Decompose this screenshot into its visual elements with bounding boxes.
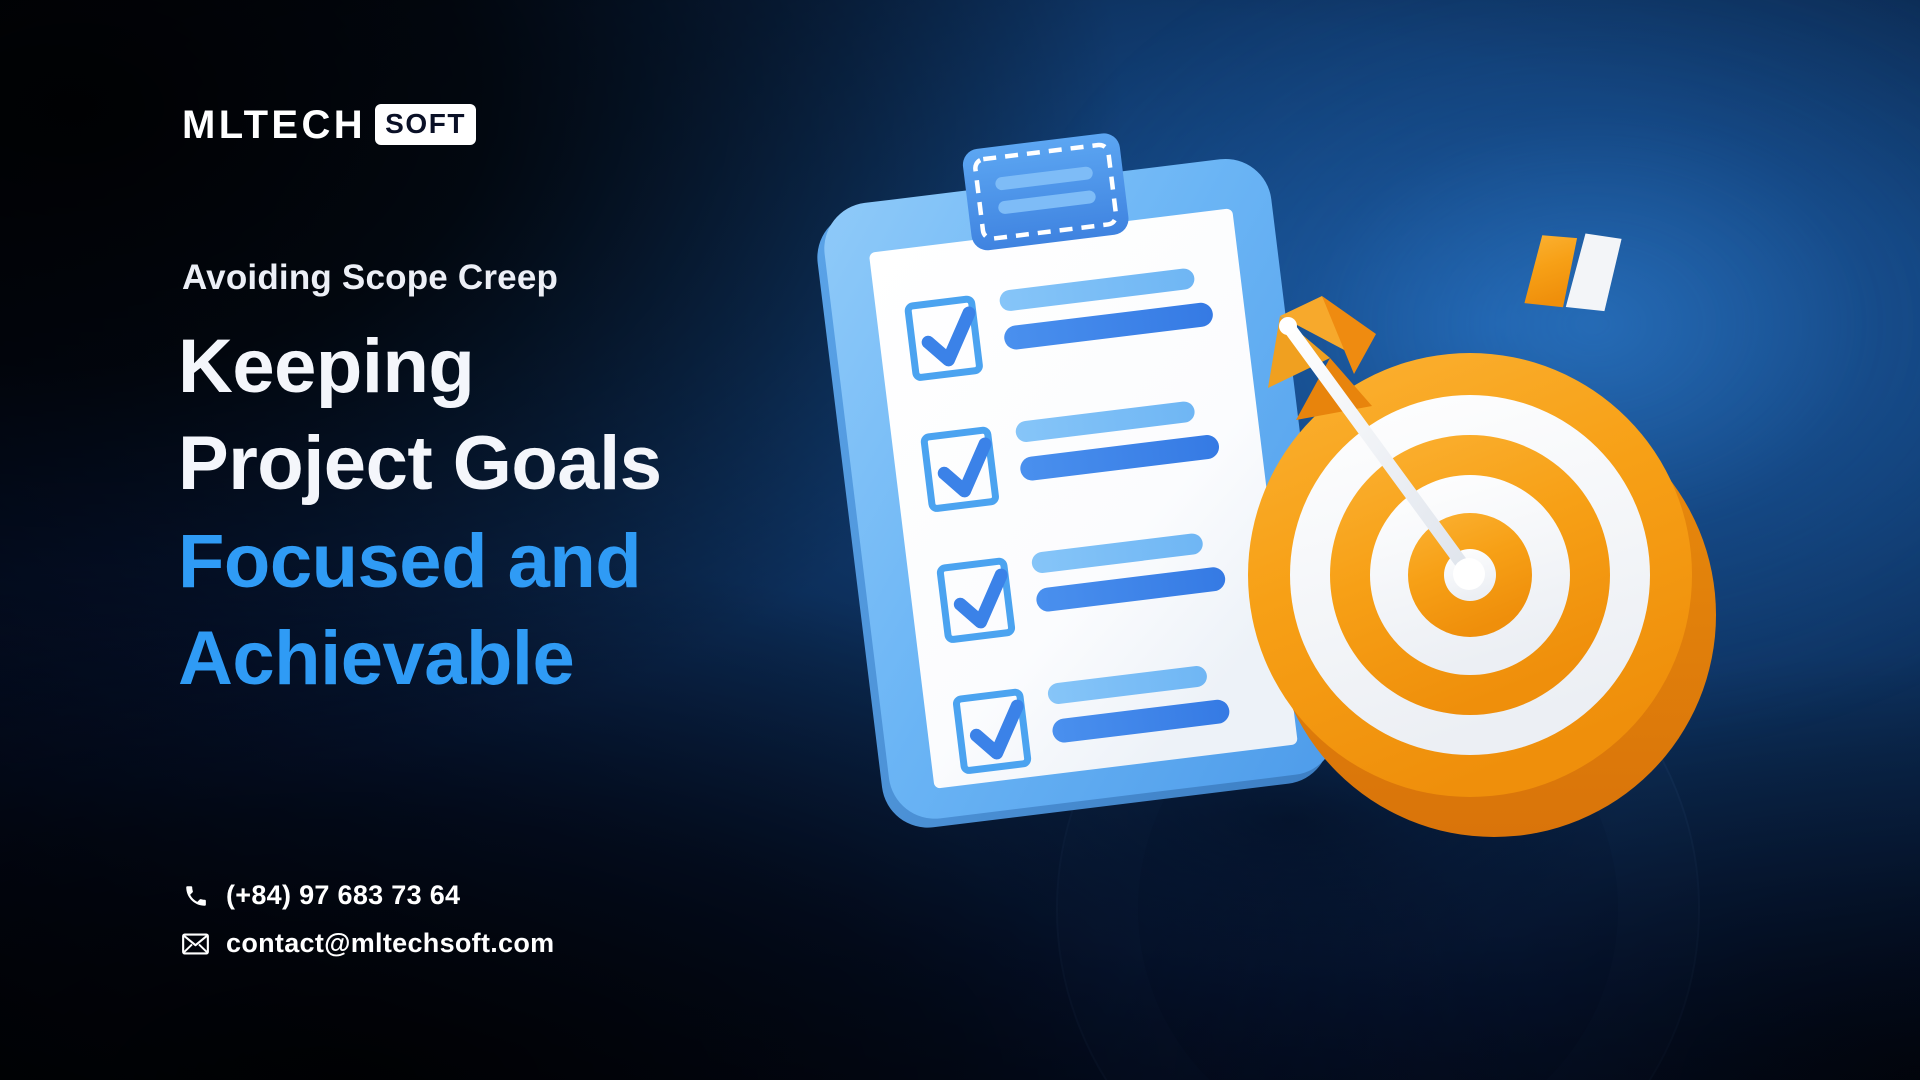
headline-line-3: Focused and: [178, 513, 661, 610]
contact-email-row[interactable]: contact@mltechsoft.com: [182, 928, 554, 959]
headline-line-2: Project Goals: [178, 415, 661, 512]
headline: Keeping Project Goals Focused and Achiev…: [178, 318, 661, 707]
phone-icon: [182, 882, 209, 909]
contact-phone-row[interactable]: (+84) 97 683 73 64: [182, 880, 554, 911]
clipboard: [806, 114, 1342, 833]
logo-badge-soft: SOFT: [375, 104, 476, 145]
phone-number: (+84) 97 683 73 64: [226, 880, 460, 911]
logo-wordmark: MLTECH: [182, 105, 366, 145]
promo-banner: MLTECH SOFT Avoiding Scope Creep Keeping…: [0, 0, 1920, 1080]
hero-illustration: [860, 120, 1740, 970]
confetti-cones: [1521, 228, 1628, 319]
headline-line-1: Keeping: [178, 318, 661, 415]
contact-block: (+84) 97 683 73 64 contact@mltechsoft.co…: [182, 880, 554, 959]
headline-line-4: Achievable: [178, 610, 661, 707]
eyebrow-text: Avoiding Scope Creep: [182, 258, 558, 298]
clipboard-clip: [961, 132, 1130, 252]
brand-logo[interactable]: MLTECH SOFT: [182, 104, 476, 145]
envelope-icon: [182, 930, 209, 957]
email-address: contact@mltechsoft.com: [226, 928, 554, 959]
